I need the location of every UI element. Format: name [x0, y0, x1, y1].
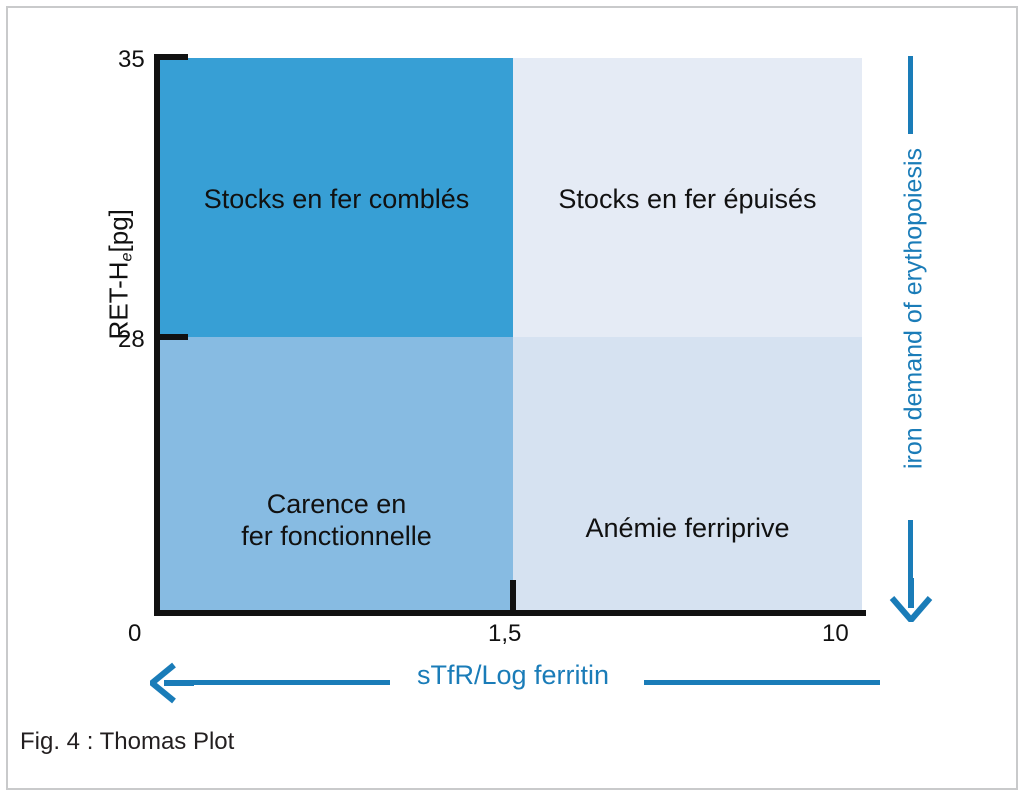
x-tick-label-10: 10: [822, 620, 849, 648]
quadrant-bottom-left-label-line2: fer fonctionnelle: [160, 521, 513, 553]
x-tick-label-0: 0: [128, 620, 141, 648]
iron-demand-annotation: iron demand of erythopoiesis: [864, 54, 964, 620]
thomas-plot-figure: Stocks en fer comblés Stocks en fer épui…: [0, 0, 1024, 796]
iron-demand-label: iron demand of erythopoiesis: [900, 99, 929, 519]
stfr-log-ferritin-annotation: sTfR/Log ferritin: [150, 660, 880, 706]
x-axis-line: [154, 610, 866, 616]
arrow-down-icon: [888, 578, 934, 622]
quadrant-top-right-label: Stocks en fer épuisés: [513, 184, 862, 216]
x-tick-label-1-5: 1,5: [488, 620, 521, 648]
stfr-line-left: [190, 680, 390, 685]
stfr-log-ferritin-label: sTfR/Log ferritin: [398, 660, 628, 691]
quadrant-bottom-left: Carence en fer fonctionnelle: [160, 337, 513, 612]
quadrant-bottom-right: Anémie ferriprive: [513, 337, 862, 612]
quadrant-top-left: Stocks en fer comblés: [160, 58, 513, 337]
quadrant-top-right: Stocks en fer épuisés: [513, 58, 862, 337]
x-tick-mark-1-5: [510, 580, 516, 610]
quadrant-top-left-label: Stocks en fer comblés: [160, 184, 513, 216]
y-axis-title-unit: [pg]: [104, 209, 134, 252]
stfr-line-right: [644, 680, 880, 685]
quadrant-bottom-right-label: Anémie ferriprive: [513, 513, 862, 545]
arrow-left-icon: [150, 662, 194, 704]
figure-caption: Fig. 4 : Thomas Plot: [20, 728, 234, 756]
y-tick-label-35: 35: [118, 46, 145, 74]
quadrant-bottom-left-label: Carence en fer fonctionnelle: [160, 489, 513, 553]
y-axis-title: RET-He[pg]: [104, 144, 137, 404]
y-tick-mark-28: [160, 334, 188, 340]
y-tick-mark-35: [160, 54, 188, 60]
y-axis-title-subscript: e: [117, 252, 135, 261]
quadrant-bottom-left-label-line1: Carence en: [160, 489, 513, 521]
plot-area: Stocks en fer comblés Stocks en fer épui…: [160, 58, 862, 612]
y-axis-title-main: RET-H: [104, 261, 134, 339]
iron-demand-line-bottom: [908, 520, 913, 580]
